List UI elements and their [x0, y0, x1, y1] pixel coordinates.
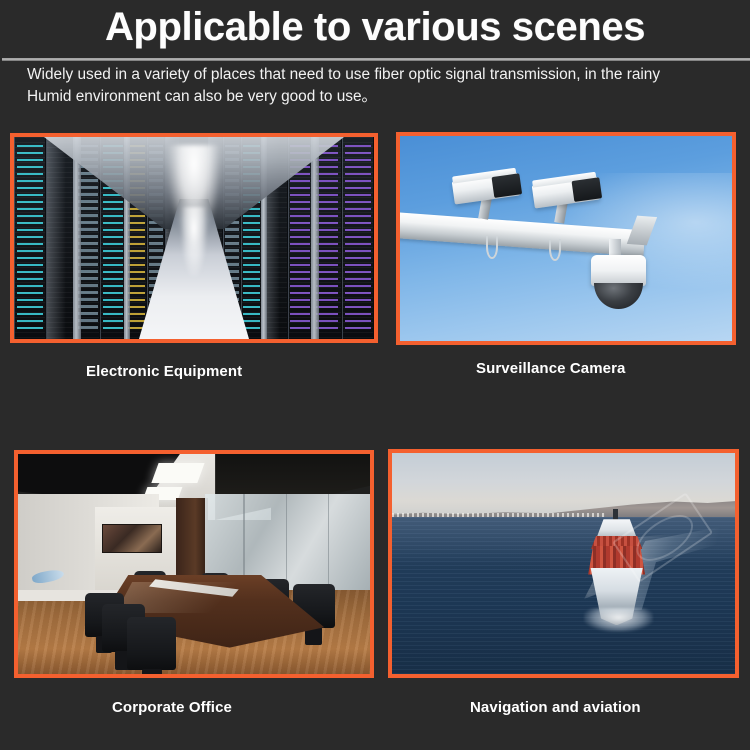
cable-hook — [549, 239, 560, 262]
scene-label-electronic-equipment: Electronic Equipment — [86, 363, 242, 380]
aisle-pillar — [311, 137, 319, 339]
scene-card-surveillance-camera[interactable] — [396, 132, 736, 345]
description-line-2: Humid environment can also be very good … — [27, 86, 750, 108]
dome-camera-glass — [594, 283, 644, 310]
scene-card-electronic-equipment[interactable] — [10, 133, 378, 343]
scene-label-corporate-office: Corporate Office — [112, 699, 232, 716]
surveillance-camera-image — [400, 136, 732, 341]
data-center-illustration — [14, 137, 374, 339]
wall-artwork — [102, 524, 162, 553]
office-chair — [127, 617, 176, 670]
scene-label-surveillance-camera: Surveillance Camera — [476, 360, 625, 377]
glass-mullion — [328, 494, 330, 597]
camera-lens — [571, 177, 601, 201]
server-rack — [14, 137, 46, 339]
server-rack — [342, 137, 374, 339]
server-rack — [46, 137, 75, 339]
dome-camera-housing — [591, 255, 646, 286]
navigation-and-aviation-image — [392, 453, 735, 674]
seascape-illustration — [392, 453, 735, 674]
page-title: Applicable to various scenes — [0, 2, 750, 52]
scene-label-navigation-and-aviation: Navigation and aviation — [470, 699, 641, 716]
scene-card-corporate-office[interactable] — [14, 450, 374, 678]
sky-background — [400, 136, 732, 341]
scene-card-navigation-and-aviation[interactable] — [388, 449, 739, 678]
corporate-office-image — [18, 454, 370, 674]
title-divider — [2, 58, 750, 61]
conference-room-illustration — [18, 454, 370, 674]
electronic-equipment-image — [14, 137, 374, 339]
camera-lens — [491, 173, 521, 197]
box-camera — [452, 172, 521, 204]
aisle-pillar — [73, 137, 81, 339]
description-text: Widely used in a variety of places that … — [27, 64, 750, 108]
cable-hook — [486, 236, 497, 259]
aisle-vanishing-glow — [181, 207, 207, 277]
bow-foam — [584, 608, 653, 632]
description-line-1: Widely used in a variety of places that … — [27, 64, 750, 86]
ceiling-light-panel — [152, 463, 205, 483]
